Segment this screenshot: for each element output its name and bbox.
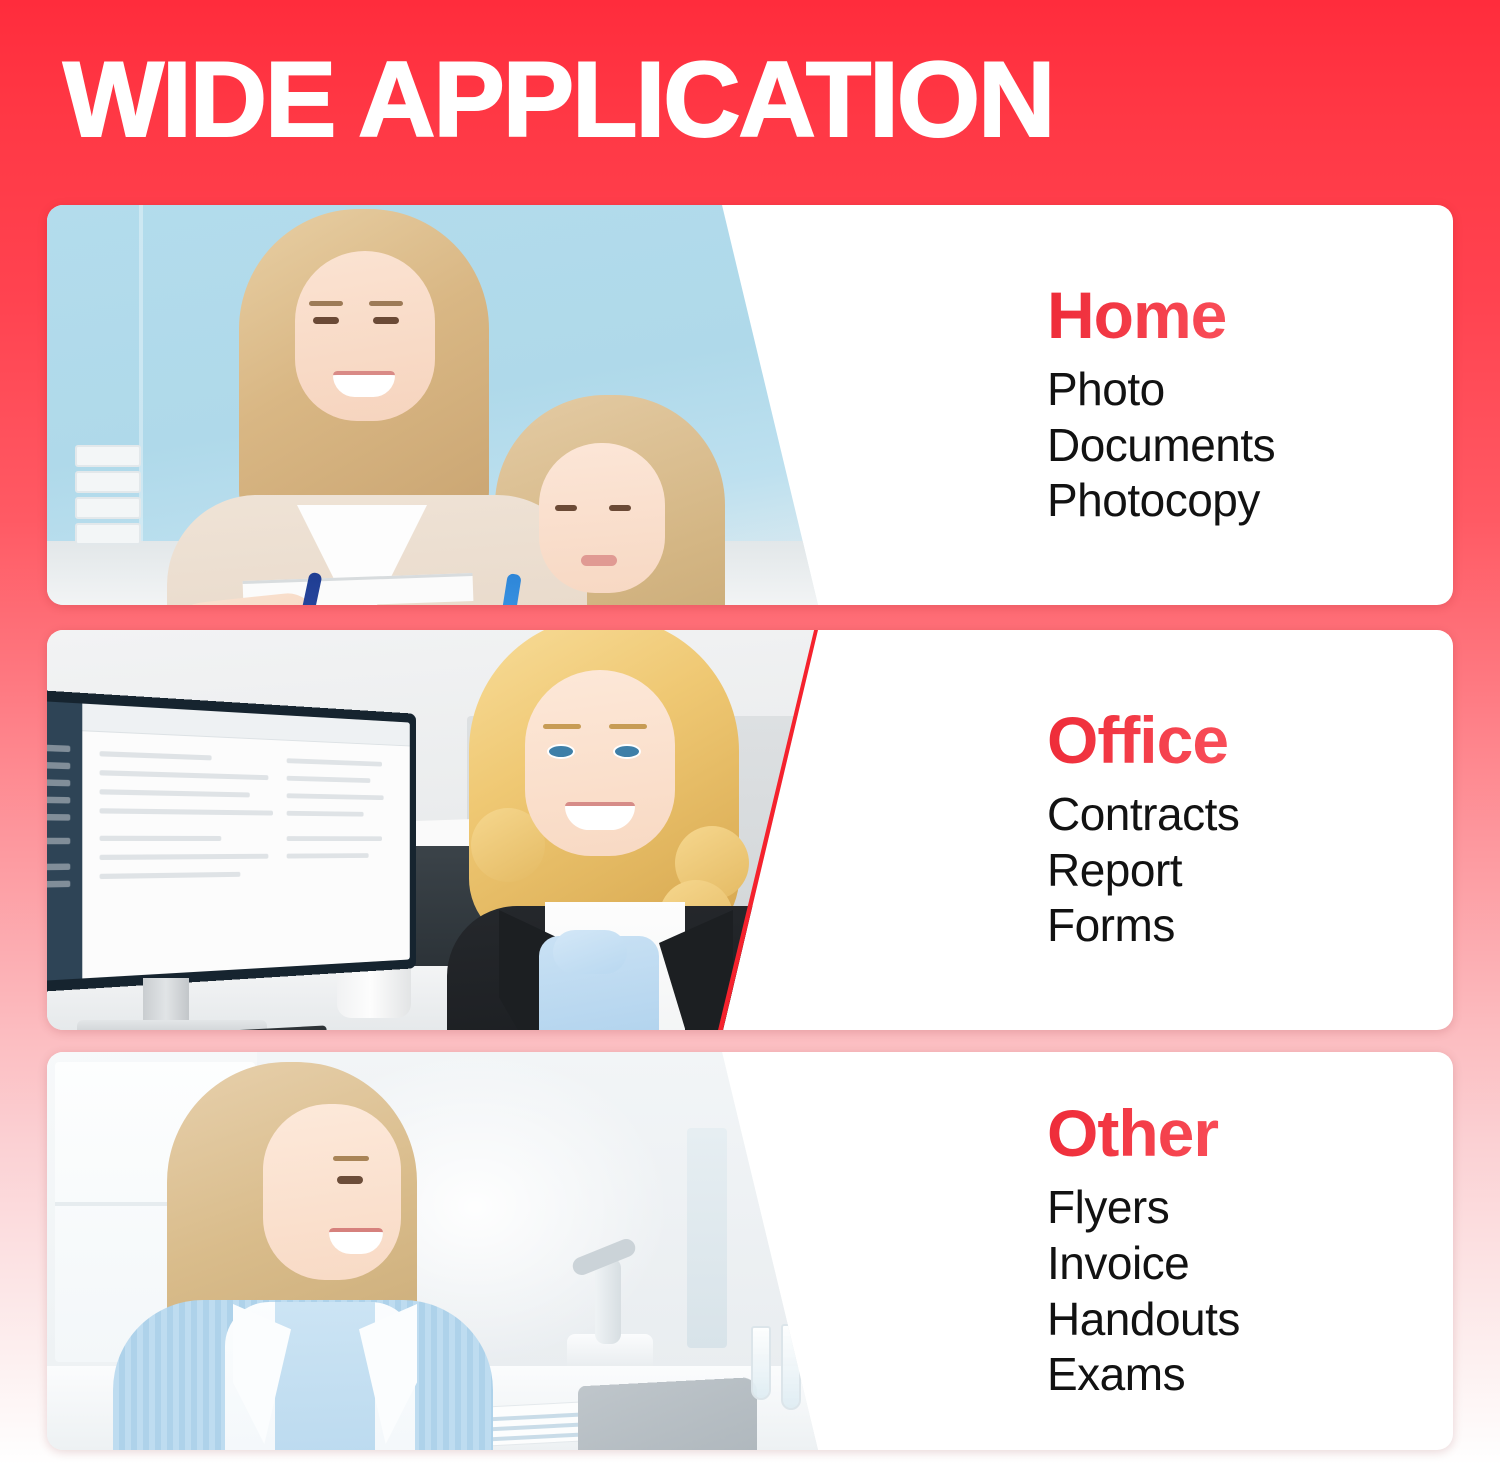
list-item: Invoice xyxy=(1047,1236,1453,1292)
list-item: Report xyxy=(1047,843,1453,899)
card-heading-home: Home xyxy=(1047,281,1453,350)
home-photo-illustration xyxy=(47,205,877,605)
application-card-home: Home Photo Documents Photocopy xyxy=(47,205,1453,605)
card-heading-office: Office xyxy=(1047,706,1453,775)
card-photo-office xyxy=(47,630,877,1030)
laptop-icon xyxy=(578,1377,757,1450)
header-banner: WIDE APPLICATION xyxy=(0,0,1500,190)
application-card-other: Other Flyers Invoice Handouts Exams xyxy=(47,1052,1453,1450)
card-text-office: Office Contracts Report Forms xyxy=(877,630,1453,1030)
card-text-home: Home Photo Documents Photocopy xyxy=(877,205,1453,605)
list-item: Exams xyxy=(1047,1347,1453,1403)
list-item: Contracts xyxy=(1047,787,1453,843)
card-item-list-home: Photo Documents Photocopy xyxy=(1047,362,1453,529)
list-item: Photo xyxy=(1047,362,1453,418)
list-item: Documents xyxy=(1047,418,1453,474)
office-photo-illustration xyxy=(47,630,877,1030)
list-item: Flyers xyxy=(1047,1180,1453,1236)
other-photo-illustration xyxy=(47,1052,877,1450)
card-item-list-other: Flyers Invoice Handouts Exams xyxy=(1047,1180,1453,1403)
card-photo-home xyxy=(47,205,877,605)
book-stack-icon xyxy=(75,427,141,545)
infographic-page: WIDE APPLICATION xyxy=(0,0,1500,1465)
card-item-list-office: Contracts Report Forms xyxy=(1047,787,1453,954)
card-text-other: Other Flyers Invoice Handouts Exams xyxy=(877,1052,1453,1450)
list-item: Photocopy xyxy=(1047,473,1453,529)
card-photo-other xyxy=(47,1052,877,1450)
list-item: Forms xyxy=(1047,898,1453,954)
application-card-office: Office Contracts Report Forms xyxy=(47,630,1453,1030)
monitor-icon xyxy=(47,688,416,994)
card-heading-other: Other xyxy=(1047,1099,1453,1168)
list-item: Handouts xyxy=(1047,1292,1453,1348)
page-title: WIDE APPLICATION xyxy=(63,46,1053,153)
